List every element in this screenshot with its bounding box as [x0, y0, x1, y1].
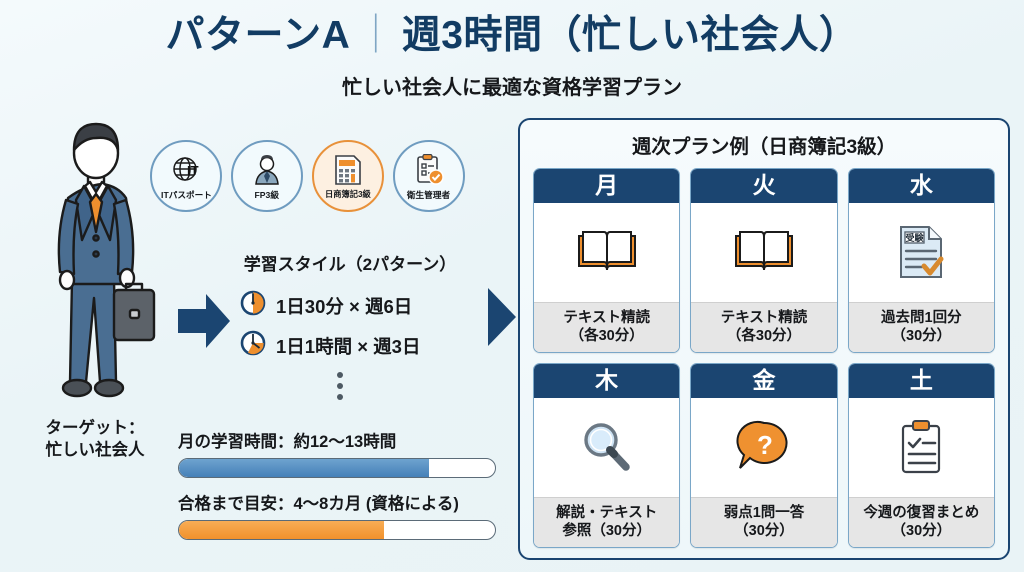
study-style-option-2: 1日1時間 × 週3日 [240, 330, 420, 361]
day-header: 土 [849, 364, 994, 398]
day-caption: 過去問1回分 （30分） [849, 302, 994, 352]
day-card-monday[interactable]: 月 テキスト精読 （各30分） [533, 168, 680, 353]
open-book-icon [534, 203, 679, 302]
businessman-illustration [38, 120, 156, 412]
clipboard-check-icon [414, 154, 444, 186]
magnifier-icon [534, 398, 679, 497]
study-style-heading: 学習スタイル（2パターン） [200, 250, 500, 275]
progress-fill [179, 459, 429, 477]
badge-label: ITパスポート [161, 188, 212, 200]
day-header: 月 [534, 169, 679, 203]
clock-quarter-icon [240, 330, 266, 361]
title-left: パターンA [166, 14, 351, 57]
title-right: 週3時間（忙しい社会人） [402, 14, 859, 57]
certification-badges: IT ITパスポート FP3級 [150, 140, 465, 212]
badge-fp3[interactable]: FP3級 [231, 140, 303, 212]
person-suit-icon [252, 154, 282, 186]
progress-bar-time-to-pass [178, 520, 496, 540]
day-header: 水 [849, 169, 994, 203]
day-caption: テキスト精読 （各30分） [691, 302, 836, 352]
day-caption: 解説・テキスト 参照（30分） [534, 497, 679, 547]
panel-title: 週次プラン例（日商簿記3級） [520, 130, 1008, 159]
metric-time-to-pass: 合格まで目安：4〜8カ月 (資格による) [178, 490, 496, 540]
day-card-tuesday[interactable]: 火 テキスト精読 （各30分） [690, 168, 837, 353]
question-mark-text: ? [757, 430, 773, 460]
day-card-thursday[interactable]: 木 解説・テキスト 参照（30分） [533, 363, 680, 548]
clipboard-checklist-icon [849, 398, 994, 497]
open-book-icon [691, 203, 836, 302]
arrow-right-to-panel [488, 282, 518, 357]
badge-label: FP3級 [255, 188, 279, 200]
day-header: 火 [691, 169, 836, 203]
page-header: パターンA｜週3時間（忙しい社会人） 忙しい社会人に最適な資格学習プラン [0, 14, 1024, 100]
badge-it-passport[interactable]: IT ITパスポート [150, 140, 222, 212]
target-line-2: 忙しい社会人 [46, 441, 145, 459]
progress-bar-monthly-hours [178, 458, 496, 478]
weekly-plan-panel: 週次プラン例（日商簿記3級） 月 テキスト精読 （各30分） 火 [518, 118, 1010, 560]
study-style-option-1: 1日30分 × 週6日 [240, 290, 412, 321]
day-caption: 弱点1問一答 （30分） [691, 497, 836, 547]
day-caption: 今週の復習まとめ （30分） [849, 497, 994, 547]
day-card-saturday[interactable]: 土 今週の復習まとめ （30分） [848, 363, 995, 548]
metric-label: 合格まで目安：4〜8カ月 (資格による) [178, 490, 496, 514]
badge-label: 日商簿記3級 [325, 188, 371, 200]
badge-label: 衛生管理者 [407, 188, 450, 200]
target-line-1: ターゲット： [46, 419, 145, 437]
globe-it-icon: IT [170, 154, 202, 186]
exam-paper-icon: 受験 [849, 203, 994, 302]
study-style-text: 1日1時間 × 週3日 [276, 333, 420, 359]
day-header: 金 [691, 364, 836, 398]
vertical-ellipsis-icon [337, 372, 343, 400]
target-label: ターゲット： 忙しい社会人 [10, 418, 180, 462]
day-caption: テキスト精読 （各30分） [534, 302, 679, 352]
question-bubble-icon: ? [691, 398, 836, 497]
badge-boki3[interactable]: 日商簿記3級 [312, 140, 384, 212]
metric-label: 月の学習時間：約12〜13時間 [178, 428, 496, 452]
metric-monthly-hours: 月の学習時間：約12〜13時間 [178, 428, 496, 478]
day-card-friday[interactable]: 金 ? 弱点1問一答 （30分） [690, 363, 837, 548]
title-separator: ｜ [350, 14, 402, 57]
exam-paper-text: 受験 [906, 232, 925, 243]
study-style-text: 1日30分 × 週6日 [276, 293, 412, 319]
weekly-plan-grid: 月 テキスト精読 （各30分） 火 テ [533, 168, 995, 548]
page-title: パターンA｜週3時間（忙しい社会人） [0, 14, 1024, 59]
page-subtitle: 忙しい社会人に最適な資格学習プラン [0, 71, 1024, 100]
svg-text:IT: IT [187, 163, 199, 178]
calculator-icon [333, 154, 363, 186]
day-header: 木 [534, 364, 679, 398]
progress-fill [179, 521, 384, 539]
clock-half-icon [240, 290, 266, 321]
arrow-right-primary [178, 292, 230, 355]
day-card-wednesday[interactable]: 水 受験 過去問1回分 （30分） [848, 168, 995, 353]
badge-hygiene-manager[interactable]: 衛生管理者 [393, 140, 465, 212]
